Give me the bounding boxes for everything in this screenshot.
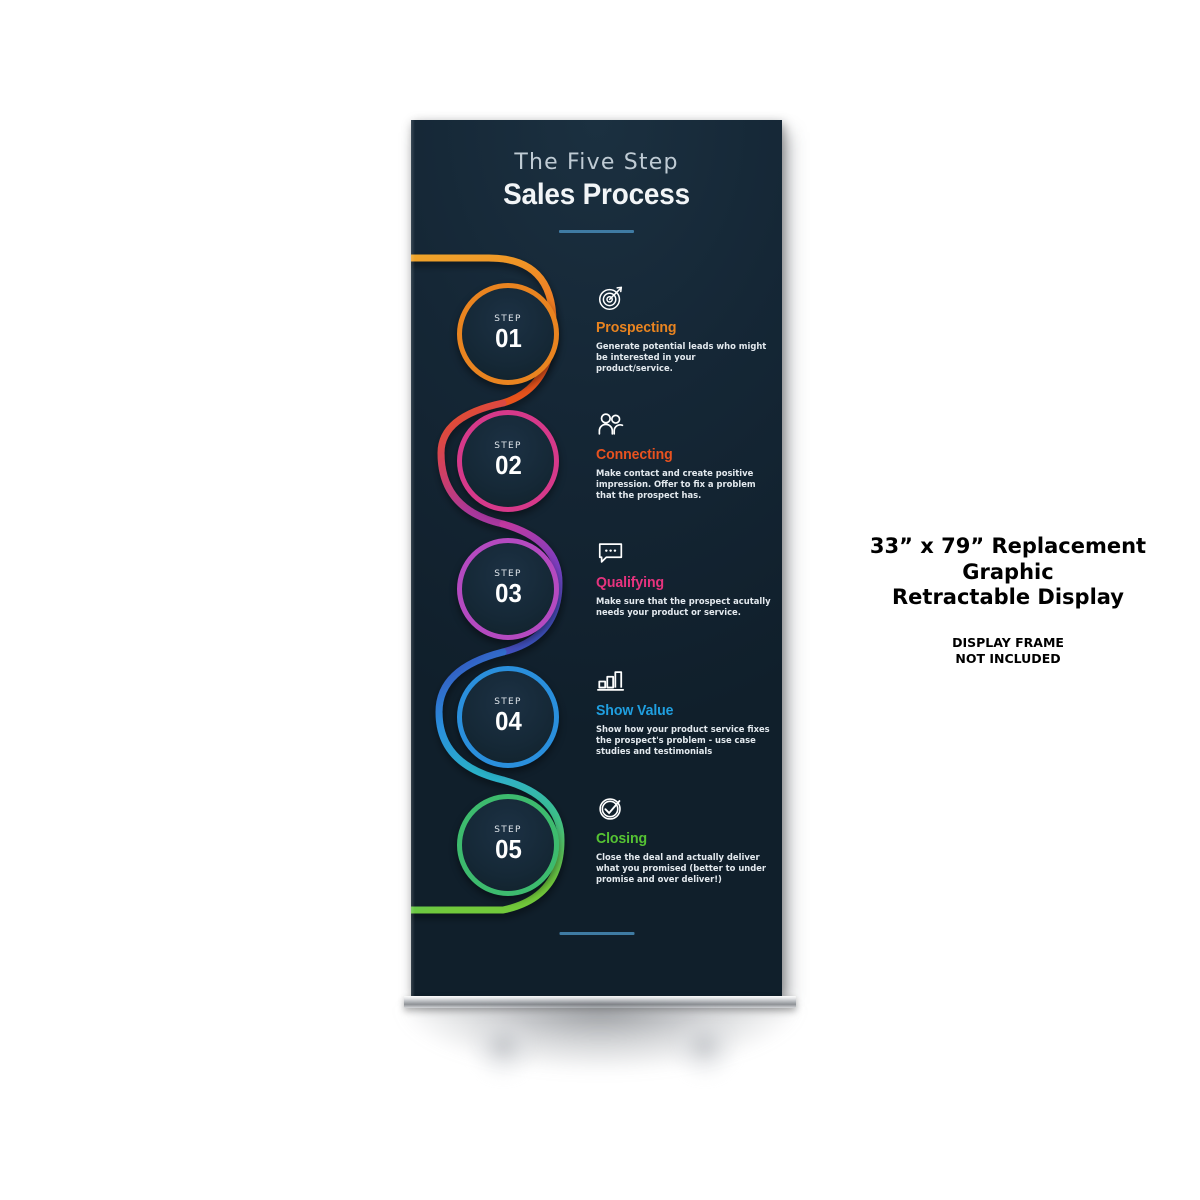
stand-foot-right	[672, 1026, 738, 1080]
step-description-02: Make contact and create positive impress…	[596, 468, 772, 501]
step-row-05: STEP 05 Closing Close the deal and actua…	[411, 794, 782, 924]
step-content-05: Closing Close the deal and actually deli…	[596, 794, 772, 885]
step-badge-05: STEP 05	[457, 794, 559, 896]
step-badge-01: STEP 01	[457, 283, 559, 385]
footer-divider	[559, 932, 634, 935]
retractable-banner-graphic: The Five Step Sales Process STEP 01	[411, 120, 782, 996]
step-title-05: Closing	[596, 830, 761, 847]
product-copy-block: 33” x 79” Replacement Graphic Retractabl…	[830, 534, 1186, 667]
step-row-02: STEP 02 Connecting Make contact and crea…	[411, 410, 782, 540]
product-note: DISPLAY FRAME NOT INCLUDED	[830, 635, 1186, 668]
step-number-04: 04	[495, 708, 522, 735]
step-title-01: Prospecting	[596, 319, 761, 336]
banner-header: The Five Step Sales Process	[411, 150, 782, 233]
check-circle-icon	[596, 794, 772, 826]
stand-shadow	[400, 1006, 800, 1072]
banner-title-main: Sales Process	[424, 178, 769, 212]
step-content-01: Prospecting Generate potential leads who…	[596, 283, 772, 374]
step-content-02: Connecting Make contact and create posit…	[596, 410, 772, 501]
header-divider	[559, 230, 634, 233]
product-mockup: The Five Step Sales Process STEP 01	[0, 0, 820, 1200]
step-badge-02: STEP 02	[457, 410, 559, 512]
target-icon	[596, 283, 772, 315]
step-description-01: Generate potential leads who might be in…	[596, 341, 772, 374]
stand-foot-left	[470, 1026, 536, 1080]
step-row-04: STEP 04 Show Value Show how your product…	[411, 666, 782, 796]
step-description-03: Make sure that the prospect acutally nee…	[596, 596, 772, 618]
step-badge-04: STEP 04	[457, 666, 559, 768]
speech-bubble-icon	[596, 538, 772, 570]
step-row-03: STEP 03 Qualifying Make sure that the pr…	[411, 538, 782, 668]
bar-chart-icon	[596, 666, 772, 698]
banner-title-eyebrow: The Five Step	[411, 150, 782, 175]
people-icon	[596, 410, 772, 442]
step-title-03: Qualifying	[596, 574, 761, 591]
step-description-04: Show how your product service fixes the …	[596, 724, 772, 757]
step-number-01: 01	[495, 325, 522, 352]
product-note-line1: DISPLAY FRAME	[830, 635, 1186, 651]
step-content-04: Show Value Show how your product service…	[596, 666, 772, 757]
step-content-03: Qualifying Make sure that the prospect a…	[596, 538, 772, 618]
step-badge-03: STEP 03	[457, 538, 559, 640]
steps-list: STEP 01 Prospecting Generate	[411, 120, 782, 996]
product-title-line1: 33” x 79” Replacement Graphic	[830, 534, 1186, 585]
step-number-05: 05	[495, 836, 522, 863]
product-note-line2: NOT INCLUDED	[830, 651, 1186, 667]
step-number-03: 03	[495, 580, 522, 607]
step-row-01: STEP 01 Prospecting Generate	[411, 283, 782, 413]
step-description-05: Close the deal and actually deliver what…	[596, 852, 772, 885]
step-title-02: Connecting	[596, 446, 761, 463]
step-number-02: 02	[495, 452, 522, 479]
step-title-04: Show Value	[596, 702, 761, 719]
product-title-line2: Retractable Display	[830, 585, 1186, 611]
